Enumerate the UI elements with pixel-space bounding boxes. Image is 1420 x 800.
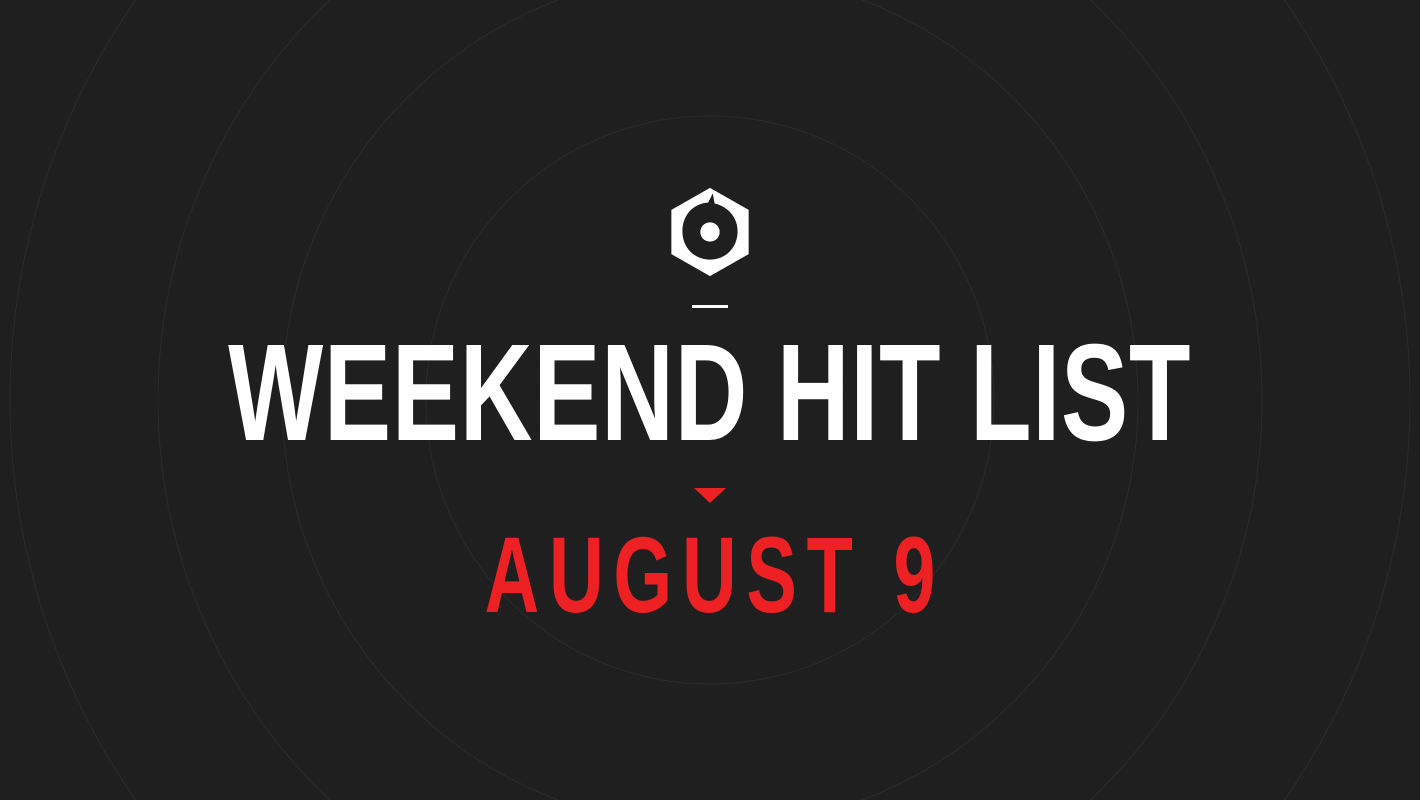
hexagon-swirl-icon (664, 186, 756, 278)
page-title: WEEKEND HIT LIST (228, 324, 1191, 462)
date-label: AUGUST 9 (475, 521, 945, 629)
horizontal-rule-divider (692, 305, 728, 308)
hero-stack: WEEKEND HIT LIST AUGUST 9 (0, 0, 1420, 800)
triangle-down-icon (694, 488, 726, 503)
brand-logo (664, 186, 756, 278)
title-card: WEEKEND HIT LIST AUGUST 9 (0, 0, 1420, 800)
